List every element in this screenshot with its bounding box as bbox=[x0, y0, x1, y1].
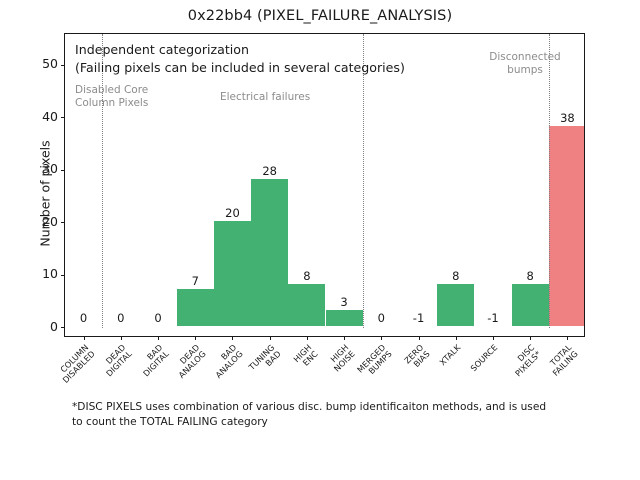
x-tick-mark bbox=[121, 336, 122, 340]
y-tick-label: 50 bbox=[42, 56, 58, 71]
x-tick-mark bbox=[232, 336, 233, 340]
x-tick-mark bbox=[307, 336, 308, 340]
y-tick-label: 20 bbox=[42, 214, 58, 229]
separator-line bbox=[102, 34, 103, 328]
footnote: *DISC PIXELS uses combination of various… bbox=[72, 400, 592, 429]
bar-value-label: 7 bbox=[192, 274, 199, 288]
bar-value-label: 0 bbox=[117, 311, 124, 325]
x-tick-mark bbox=[567, 336, 568, 340]
x-tick-mark bbox=[530, 336, 531, 340]
plot-area: Number of pixels 01020304050 COLUMNDISAB… bbox=[64, 33, 585, 337]
x-tick-mark bbox=[493, 336, 494, 340]
separator-line bbox=[549, 34, 550, 328]
bar[interactable] bbox=[512, 284, 549, 326]
bar-value-label: 8 bbox=[303, 269, 310, 283]
y-tick-label: 10 bbox=[42, 266, 58, 281]
y-tick-label: 30 bbox=[42, 161, 58, 176]
bar[interactable] bbox=[251, 179, 288, 326]
bar[interactable] bbox=[437, 284, 474, 326]
y-tick-label: 0 bbox=[50, 319, 58, 334]
bar-value-label: 20 bbox=[225, 206, 240, 220]
chart-figure: 0x22bb4 (PIXEL_FAILURE_ANALYSIS) Number … bbox=[0, 0, 640, 480]
bar-value-label: 8 bbox=[527, 269, 534, 283]
bar-value-label: -1 bbox=[487, 311, 498, 325]
bar-value-label: 28 bbox=[262, 164, 277, 178]
x-tick-mark bbox=[381, 336, 382, 340]
chart-title: 0x22bb4 (PIXEL_FAILURE_ANALYSIS) bbox=[0, 8, 640, 24]
bar[interactable] bbox=[214, 221, 251, 326]
annotation-headline: Independent categorization (Failing pixe… bbox=[75, 41, 405, 77]
y-axis-label: Number of pixels bbox=[38, 42, 53, 346]
y-tick-label: 40 bbox=[42, 109, 58, 124]
x-tick-mark bbox=[419, 336, 420, 340]
plot-clip: 00072028830-18-1838 bbox=[65, 34, 584, 336]
annotation-disconnected-bumps: Disconnected bumps bbox=[465, 51, 585, 76]
bar-value-label: 0 bbox=[378, 311, 385, 325]
bar[interactable] bbox=[177, 289, 214, 326]
annotation-disabled-core: Disabled Core Column Pixels bbox=[75, 84, 148, 109]
bar-value-label: 8 bbox=[452, 269, 459, 283]
bar[interactable] bbox=[549, 126, 584, 325]
x-tick-mark bbox=[456, 336, 457, 340]
bar-value-label: -1 bbox=[413, 311, 424, 325]
x-tick-mark bbox=[84, 336, 85, 340]
x-tick-mark bbox=[158, 336, 159, 340]
x-tick-mark bbox=[344, 336, 345, 340]
bar-value-label: 3 bbox=[340, 295, 347, 309]
bar-value-label: 0 bbox=[80, 311, 87, 325]
x-tick-mark bbox=[195, 336, 196, 340]
x-tick-mark bbox=[270, 336, 271, 340]
separator-line bbox=[363, 34, 364, 328]
bar[interactable] bbox=[288, 284, 325, 326]
bar[interactable] bbox=[326, 310, 363, 326]
bar-value-label: 0 bbox=[154, 311, 161, 325]
annotation-electrical-failures: Electrical failures bbox=[220, 91, 310, 104]
bar-value-label: 38 bbox=[560, 111, 575, 125]
